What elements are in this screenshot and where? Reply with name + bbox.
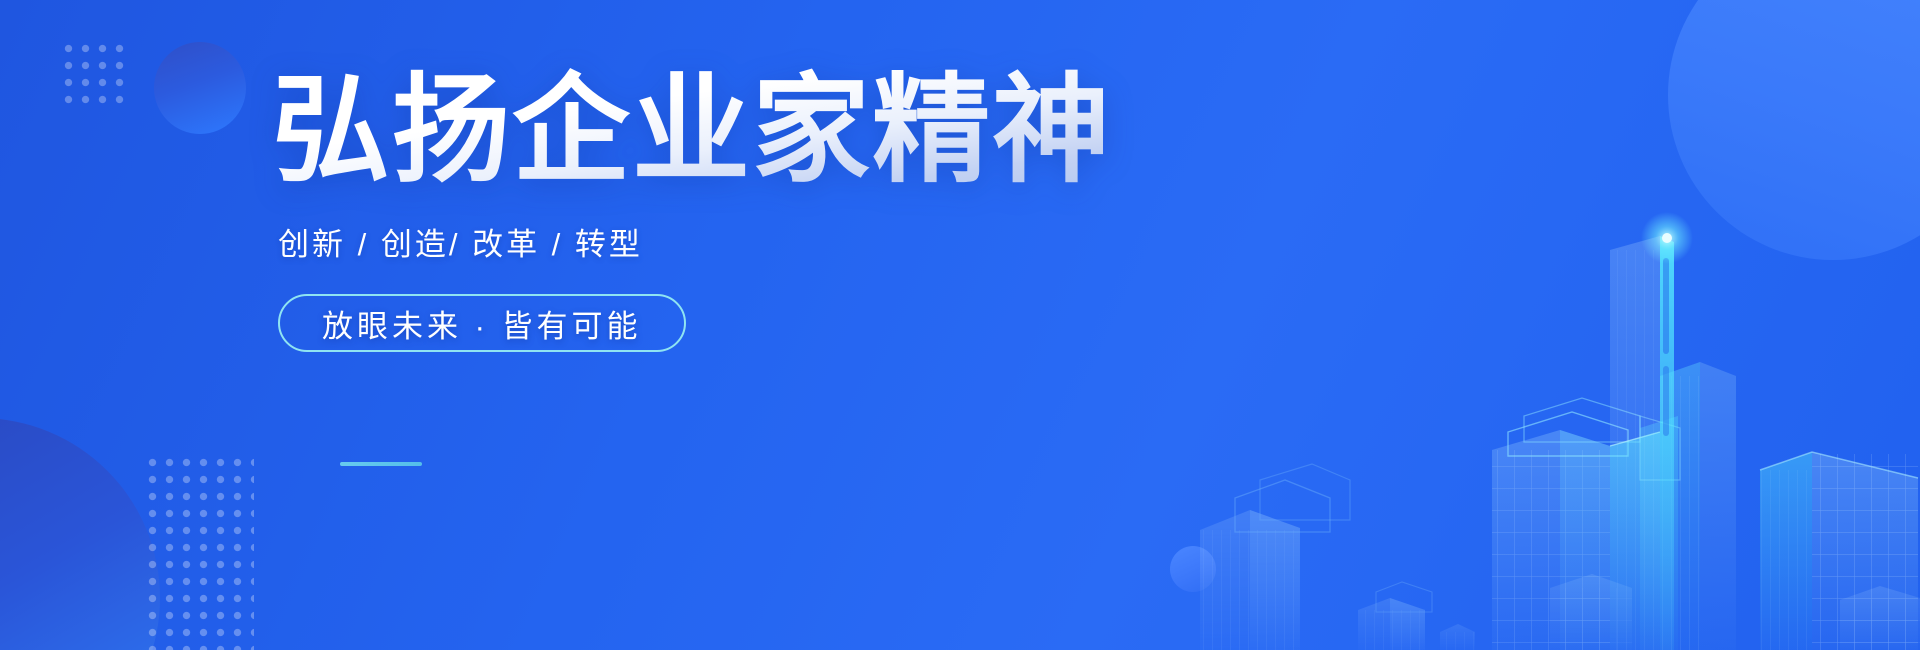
cta-row: 放眼未来 · 皆有可能 — [278, 294, 1172, 352]
banner-content: 弘扬企业家精神 创新 / 创造/ 改革 / 转型 放眼未来 · 皆有可能 — [272, 62, 1172, 352]
circle-mid-right-icon — [1170, 546, 1216, 592]
promo-banner: 弘扬企业家精神 创新 / 创造/ 改革 / 转型 放眼未来 · 皆有可能 — [0, 0, 1920, 650]
circle-bottom-left-icon — [0, 418, 160, 650]
circle-top-right-icon — [1668, 0, 1920, 260]
cta-button[interactable]: 放眼未来 · 皆有可能 — [278, 294, 686, 352]
dot-grid-bottom-left-icon — [142, 452, 254, 650]
accent-line-shape — [340, 462, 422, 466]
banner-subtitle: 创新 / 创造/ 改革 / 转型 — [278, 219, 1172, 264]
circle-top-left-icon — [154, 42, 246, 134]
dot-grid-top-left-icon — [58, 38, 124, 104]
banner-headline: 弘扬企业家精神 — [272, 62, 1172, 201]
